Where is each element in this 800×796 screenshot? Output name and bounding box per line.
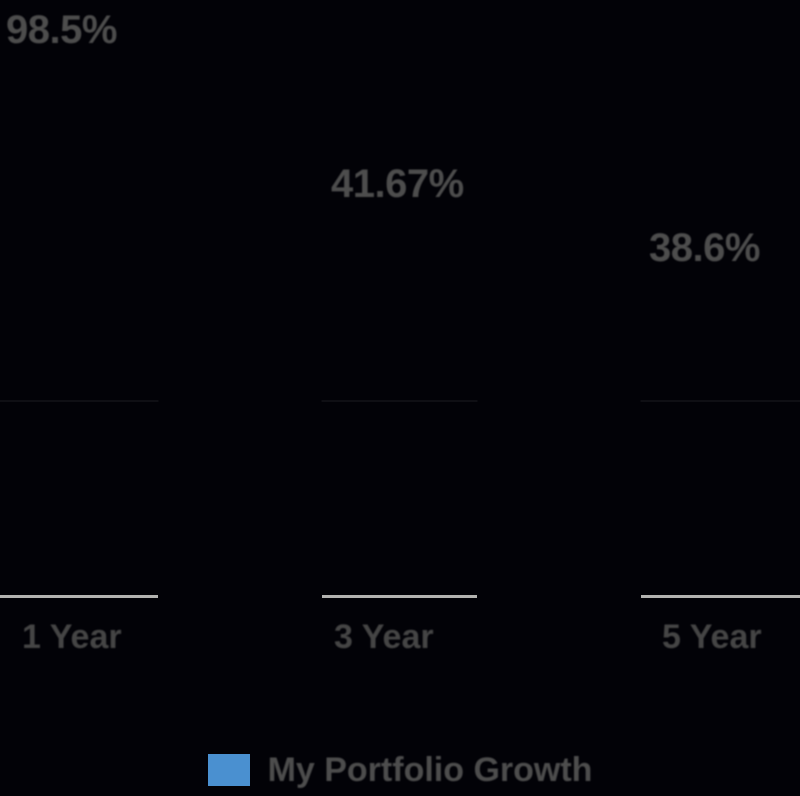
legend-color-swatch <box>208 754 250 786</box>
plot-area: 98.5% 41.67% 38.6% <box>0 0 800 600</box>
bar-chart: 98.5% 41.67% 38.6% 1 Year 3 Year 5 Year … <box>0 0 800 796</box>
chart-legend: My Portfolio Growth <box>0 744 800 796</box>
bar-group-3-year[interactable] <box>322 41 477 401</box>
value-label-3-year: 41.67% <box>331 162 464 207</box>
value-label-1-year: 98.5% <box>6 8 117 53</box>
value-label-5-year: 38.6% <box>649 226 760 271</box>
legend-item-portfolio-growth[interactable]: My Portfolio Growth <box>208 751 593 790</box>
bar-group-1-year[interactable] <box>0 0 158 401</box>
x-axis-baseline <box>0 595 800 598</box>
x-axis-label-3-year: 3 Year <box>334 618 434 657</box>
x-axis-label-5-year: 5 Year <box>662 618 762 657</box>
x-axis-label-1-year: 1 Year <box>22 618 122 657</box>
legend-item-label: My Portfolio Growth <box>268 751 593 790</box>
